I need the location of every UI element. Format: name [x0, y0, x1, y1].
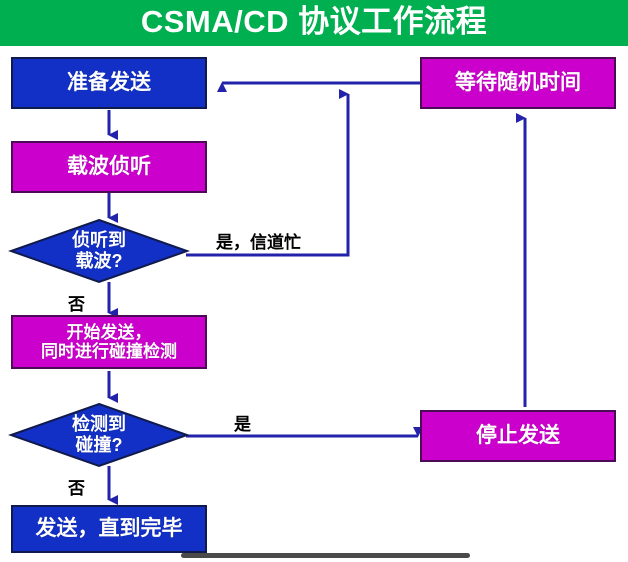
node-detect-collision[interactable]: 检测到 碰撞? — [11, 404, 187, 466]
node-wait-random[interactable]: 等待随机时间 — [420, 57, 616, 109]
edge-label-carrier-yes: 是，信道忙 — [216, 228, 301, 253]
bottom-divider-bar — [181, 553, 470, 558]
flowchart-canvas: CSMA/CD 协议工作流程 — [0, 0, 628, 562]
node-detect-carrier[interactable]: 侦听到 载波? — [11, 220, 187, 282]
node-carrier-sense[interactable]: 载波侦听 — [11, 141, 207, 193]
node-stop-send[interactable]: 停止发送 — [420, 410, 616, 462]
node-send-until-done[interactable]: 发送，直到完毕 — [11, 505, 207, 553]
node-prepare-send[interactable]: 准备发送 — [11, 57, 207, 109]
edge-label-carrier-no: 否 — [68, 290, 85, 315]
node-start-send[interactable]: 开始发送， 同时进行碰撞检测 — [11, 315, 207, 369]
edge-label-collision-yes: 是 — [234, 410, 251, 435]
edge-label-collision-no: 否 — [68, 474, 85, 499]
